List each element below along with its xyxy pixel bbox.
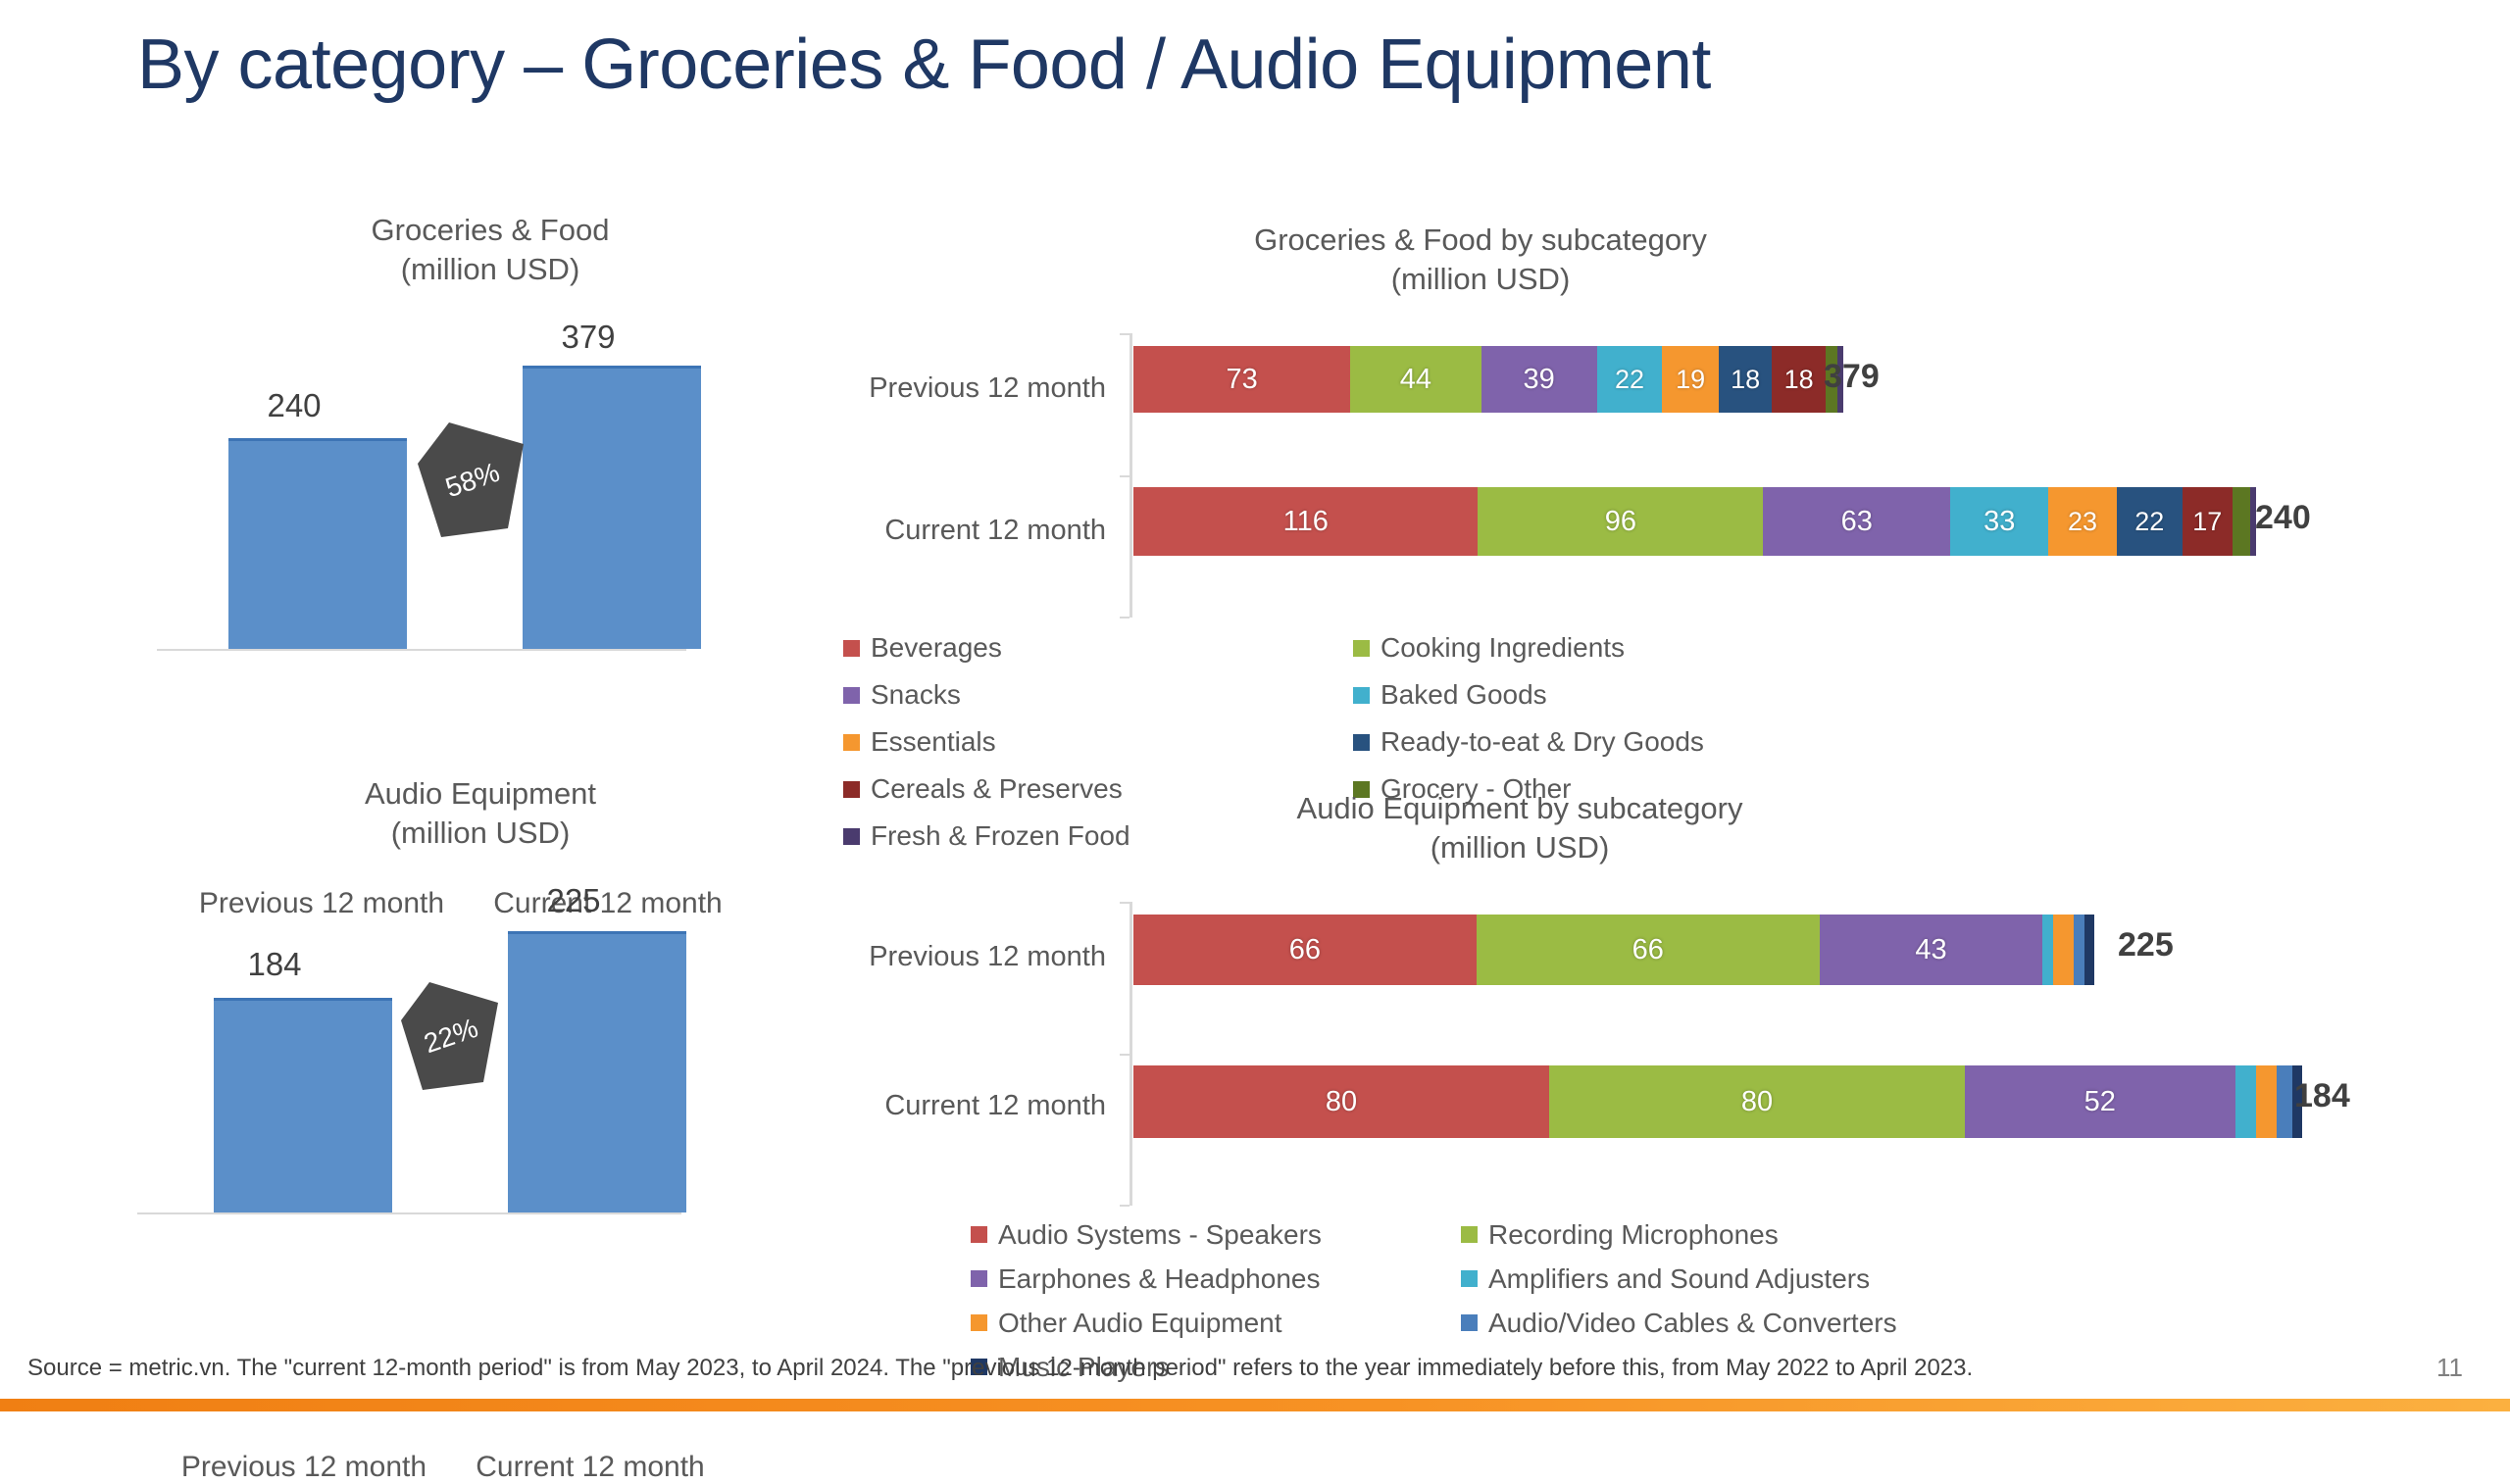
chart-title-line1: Audio Equipment <box>137 774 824 814</box>
legend-label: Recording Microphones <box>1488 1219 1779 1251</box>
bar-cap <box>508 931 686 934</box>
legend-swatch-icon <box>1353 687 1370 704</box>
legend-swatch-icon <box>971 1314 987 1331</box>
page-number: 11 <box>2436 1353 2463 1383</box>
bar-segment: 23 <box>2048 487 2117 556</box>
chart-title: Groceries & Food by subcategory (million… <box>1039 221 1922 300</box>
bar-segment: 22 <box>1597 346 1663 413</box>
stacked-bar-current: 808052 <box>1133 1065 2303 1138</box>
chart-title-line1: Groceries & Food <box>147 211 833 250</box>
bar-segment: 96 <box>1478 487 1763 556</box>
bar-segment <box>2042 915 2053 985</box>
bar-segment: 39 <box>1481 346 1597 413</box>
x-axis-line <box>137 1212 681 1214</box>
bar-total-previous: 225 <box>2118 926 2174 965</box>
legend-label: Amplifiers and Sound Adjusters <box>1488 1263 1870 1295</box>
legend-item[interactable]: Other Audio Equipment <box>971 1301 1461 1345</box>
bar-previous <box>214 998 392 1212</box>
legend-item[interactable]: Snacks <box>843 671 1353 718</box>
source-note: Source = metric.vn. The "current 12-mont… <box>27 1355 1973 1382</box>
legend-label: Other Audio Equipment <box>998 1308 1282 1339</box>
bar-segment: 17 <box>2183 487 2234 556</box>
chart-audio-subcategory: Audio Equipment by subcategory (million … <box>843 789 2490 1338</box>
y-axis-line <box>1129 333 1132 618</box>
bar-total-current: 184 <box>2294 1077 2350 1115</box>
chart-title-line2: (million USD) <box>147 250 833 289</box>
chart-title: Groceries & Food (million USD) <box>147 211 833 290</box>
bar-segment <box>2235 1065 2256 1138</box>
legend-swatch-icon <box>1353 734 1370 751</box>
legend-item[interactable]: Recording Microphones <box>1461 1212 1951 1257</box>
legend-swatch-icon <box>1461 1314 1478 1331</box>
chart-title-line2: (million USD) <box>137 814 824 853</box>
axis-tick <box>1120 1205 1129 1207</box>
bar-segment <box>2277 1065 2292 1138</box>
bar-value-current: 379 <box>471 319 706 356</box>
chart-title-line1: Audio Equipment by subcategory <box>1079 789 1961 828</box>
chart-audio-total: Audio Equipment (million USD) 184 225 22… <box>137 774 824 1284</box>
row-label-current: Current 12 month <box>843 1090 1106 1122</box>
chart-title-line2: (million USD) <box>1039 260 1922 299</box>
bar-cap <box>228 438 407 441</box>
bar-segment: 66 <box>1477 915 1820 985</box>
bar-value-previous: 184 <box>157 946 392 983</box>
bar-segment: 43 <box>1820 915 2043 985</box>
x-label-previous: Previous 12 month <box>167 1451 441 1484</box>
bar-segment <box>2074 915 2084 985</box>
bar-total-previous: 379 <box>1824 358 1880 396</box>
legend-label: Audio Systems - Speakers <box>998 1219 1322 1251</box>
chart-title-line2: (million USD) <box>1079 828 1961 867</box>
axis-tick <box>1120 1054 1129 1056</box>
row-label-previous: Previous 12 month <box>843 372 1106 405</box>
chart-title: Audio Equipment (million USD) <box>137 774 824 854</box>
chart-title: Audio Equipment by subcategory (million … <box>1079 789 1961 868</box>
legend-swatch-icon <box>843 687 860 704</box>
bar-segment: 80 <box>1549 1065 1965 1138</box>
stacked-bar-previous: 666643 <box>1133 915 2095 985</box>
bar-segment: 73 <box>1133 346 1350 413</box>
legend-item[interactable]: Earphones & Headphones <box>971 1257 1461 1301</box>
legend-label: Beverages <box>871 632 1002 664</box>
legend-swatch-icon <box>1461 1226 1478 1243</box>
row-label-current: Current 12 month <box>843 515 1106 547</box>
legend-item[interactable]: Ready-to-eat & Dry Goods <box>1353 718 1863 766</box>
legend-swatch-icon <box>1353 640 1370 657</box>
bar-segment: 80 <box>1133 1065 1549 1138</box>
legend-item[interactable]: Audio Systems - Speakers <box>971 1212 1461 1257</box>
bar-segment <box>2233 487 2250 556</box>
bar-segment <box>2256 1065 2277 1138</box>
bar-segment: 18 <box>1719 346 1773 413</box>
legend-swatch-icon <box>1461 1270 1478 1287</box>
x-label-current: Current 12 month <box>453 1451 728 1484</box>
legend-label: Earphones & Headphones <box>998 1263 1320 1295</box>
bar-segment: 22 <box>2117 487 2183 556</box>
bar-segment: 66 <box>1133 915 1477 985</box>
legend-label: Ready-to-eat & Dry Goods <box>1380 726 1704 758</box>
bar-segment: 63 <box>1763 487 1950 556</box>
legend-item[interactable]: Audio/Video Cables & Converters <box>1461 1301 1951 1345</box>
bar-current <box>523 366 701 649</box>
bar-value-previous: 240 <box>176 387 412 424</box>
legend-item[interactable]: Amplifiers and Sound Adjusters <box>1461 1257 1951 1301</box>
axis-tick <box>1120 617 1129 618</box>
legend-swatch-icon <box>843 734 860 751</box>
axis-tick <box>1120 475 1129 477</box>
chart-groceries-subcategory: Groceries & Food by subcategory (million… <box>843 221 2490 750</box>
chart-groceries-total: Groceries & Food (million USD) 240 379 5… <box>147 211 833 720</box>
row-label-previous: Previous 12 month <box>843 941 1106 973</box>
bar-total-current: 240 <box>2255 499 2311 537</box>
bar-cap <box>214 998 392 1001</box>
bar-segment: 116 <box>1133 487 1478 556</box>
chart-title-line1: Groceries & Food by subcategory <box>1039 221 1922 260</box>
bar-segment: 18 <box>1772 346 1826 413</box>
x-axis-line <box>157 649 686 651</box>
legend-item[interactable]: Baked Goods <box>1353 671 1863 718</box>
growth-badge-groceries: 58% <box>414 419 531 541</box>
y-axis-line <box>1129 902 1132 1206</box>
legend-swatch-icon <box>971 1270 987 1287</box>
legend-label: Audio/Video Cables & Converters <box>1488 1308 1897 1339</box>
stacked-bar-previous: 73443922191818 <box>1133 346 1843 413</box>
bar-segment: 52 <box>1965 1065 2235 1138</box>
legend-label: Baked Goods <box>1380 679 1547 711</box>
bar-cap <box>523 366 701 369</box>
bar-segment: 19 <box>1662 346 1719 413</box>
slide-canvas: By category – Groceries & Food / Audio E… <box>0 0 2510 1411</box>
legend-label: Cooking Ingredients <box>1380 632 1625 664</box>
bar-segment <box>2053 915 2074 985</box>
stacked-bar-current: 116966333232217 <box>1133 487 2256 556</box>
bar-value-current: 225 <box>456 882 691 919</box>
legend-item[interactable]: Essentials <box>843 718 1353 766</box>
bar-segment <box>2084 915 2095 985</box>
legend-label: Essentials <box>871 726 996 758</box>
legend-swatch-icon <box>971 1226 987 1243</box>
axis-tick <box>1120 333 1129 335</box>
legend-item[interactable]: Cooking Ingredients <box>1353 624 1863 671</box>
axis-tick <box>1120 902 1129 904</box>
bar-segment: 33 <box>1950 487 2048 556</box>
legend-label: Snacks <box>871 679 961 711</box>
bar-current <box>508 931 686 1212</box>
footer-accent-bar <box>0 1399 2510 1411</box>
bar-previous <box>228 438 407 649</box>
legend-item[interactable]: Beverages <box>843 624 1353 671</box>
growth-badge-audio: 22% <box>397 978 505 1094</box>
page-title: By category – Groceries & Food / Audio E… <box>137 27 2412 104</box>
legend-swatch-icon <box>843 640 860 657</box>
bar-segment: 44 <box>1350 346 1481 413</box>
